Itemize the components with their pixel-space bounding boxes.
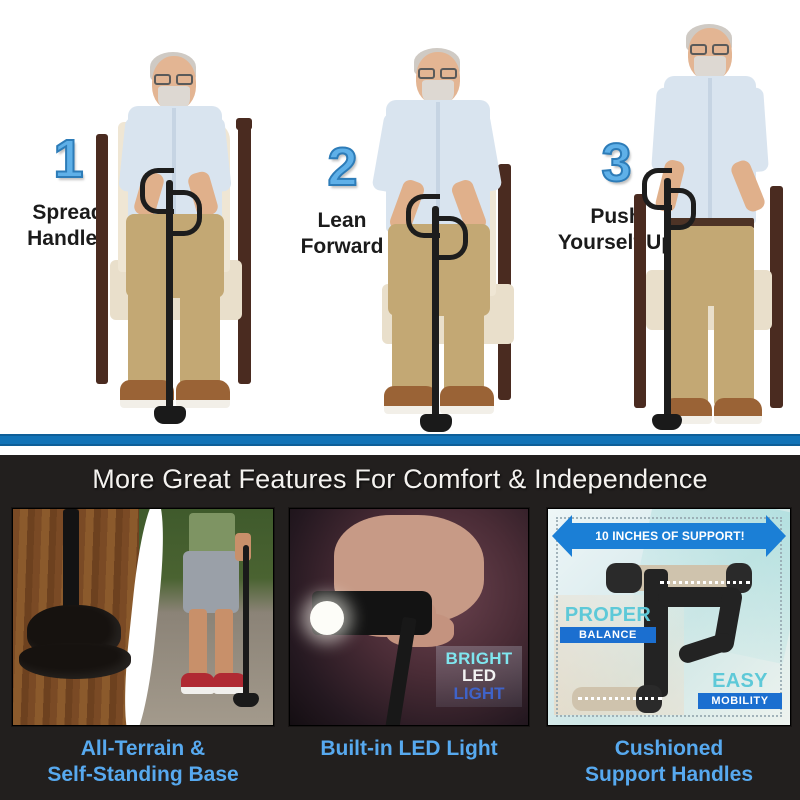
divider-gap xyxy=(0,448,800,455)
glasses-right-lens xyxy=(712,44,729,55)
led-overlay-line1: BRIGHT xyxy=(438,650,520,667)
step-2-photo xyxy=(348,34,534,434)
caption-support-handles-line2: Support Handles xyxy=(585,763,753,786)
upper-measure-dotted-line xyxy=(660,581,750,584)
led-overlay-line3: LIGHT xyxy=(438,685,520,702)
caption-all-terrain: All-Terrain & Self-Standing Base xyxy=(12,736,274,787)
walker-leg-right xyxy=(215,609,233,677)
glasses-right-lens xyxy=(176,74,193,85)
tag-proper-balance: PROPER BALANCE xyxy=(560,605,656,643)
glasses-left-lens xyxy=(154,74,171,85)
walker-leg-left xyxy=(189,609,207,677)
step-2: 2 Lean Forward xyxy=(268,0,534,434)
tag-easy-bar: MOBILITY xyxy=(698,693,782,709)
glasses-left-lens xyxy=(418,68,435,79)
cane-base-feet xyxy=(19,643,131,679)
step-3-photo xyxy=(620,18,800,434)
caption-all-terrain-line2: Self-Standing Base xyxy=(47,763,238,786)
chair-arm-left xyxy=(634,194,646,408)
tag-easy-title: EASY xyxy=(698,671,782,691)
shoe-sole-left xyxy=(384,406,438,414)
cane-handle-right xyxy=(666,188,696,230)
tag-proper-bar: BALANCE xyxy=(560,627,656,643)
chair-arm-right xyxy=(498,164,511,400)
cane-handle-right xyxy=(168,190,202,236)
infographic-page: 1 Spread Handles xyxy=(0,0,800,800)
pants-leg-left xyxy=(668,298,708,406)
caption-led-light-line1: Built-in LED Light xyxy=(320,737,497,760)
caption-led-light: Built-in LED Light xyxy=(289,736,529,762)
step-1-photo xyxy=(88,22,268,434)
arrow-head-left-icon xyxy=(552,515,572,557)
led-lamp xyxy=(310,601,344,635)
glasses-left-lens xyxy=(690,44,707,55)
pants-leg-right xyxy=(180,284,220,388)
pants-hip xyxy=(666,226,754,306)
tag-proper-title: PROPER xyxy=(560,605,656,625)
chair-back-rail xyxy=(236,118,252,130)
features-section: More Great Features For Comfort & Indepe… xyxy=(0,455,800,800)
cane-base xyxy=(420,414,452,432)
cane-base xyxy=(652,414,682,430)
cane-handle-right xyxy=(434,216,468,260)
walker-cane-shaft xyxy=(243,545,249,697)
walker-shoe-sole-left xyxy=(181,687,215,694)
feature-panel-led-light: BRIGHT LED LIGHT xyxy=(289,508,529,726)
upper-grip-cap xyxy=(606,563,642,593)
caption-support-handles: Cushioned Support Handles xyxy=(547,736,791,787)
led-overlay-text: BRIGHT LED LIGHT xyxy=(436,646,522,707)
walker-shorts-top xyxy=(189,513,235,555)
glasses-right-lens xyxy=(440,68,457,79)
support-measure-label: 10 INCHES OF SUPPORT! xyxy=(595,529,744,543)
caption-support-handles-line1: Cushioned xyxy=(615,737,724,760)
cane-base xyxy=(154,406,186,424)
shirt-placket xyxy=(708,78,712,220)
feature-panel-support-handles: 10 INCHES OF SUPPORT! PROPER BALANCE EAS… xyxy=(547,508,791,726)
pants-leg-left xyxy=(392,300,432,394)
chair-arm-right xyxy=(238,118,251,384)
walker-shorts xyxy=(183,551,239,613)
steps-section: 1 Spread Handles xyxy=(0,0,800,434)
section-divider xyxy=(0,434,800,446)
lower-measure-dotted-line xyxy=(578,697,662,700)
pants-leg-left xyxy=(128,284,168,388)
feature-panel-all-terrain xyxy=(12,508,274,726)
pants-leg-right xyxy=(444,300,484,394)
shoe-sole-right xyxy=(714,416,762,424)
pants-leg-right xyxy=(714,298,754,406)
chair-arm-left xyxy=(96,134,108,384)
cane-shaft-closeup xyxy=(63,509,79,613)
step-3: 3 Push Yourself Up xyxy=(534,0,800,434)
led-overlay-line2: LED xyxy=(438,667,520,684)
walker-cane-base xyxy=(233,693,259,707)
support-measure-banner: 10 INCHES OF SUPPORT! xyxy=(570,523,770,549)
shoe-sole-right xyxy=(440,406,494,414)
caption-all-terrain-line1: All-Terrain & xyxy=(81,737,205,760)
tag-easy-mobility: EASY MOBILITY xyxy=(698,671,782,709)
step-1: 1 Spread Handles xyxy=(0,0,268,434)
features-title: More Great Features For Comfort & Indepe… xyxy=(0,464,800,495)
